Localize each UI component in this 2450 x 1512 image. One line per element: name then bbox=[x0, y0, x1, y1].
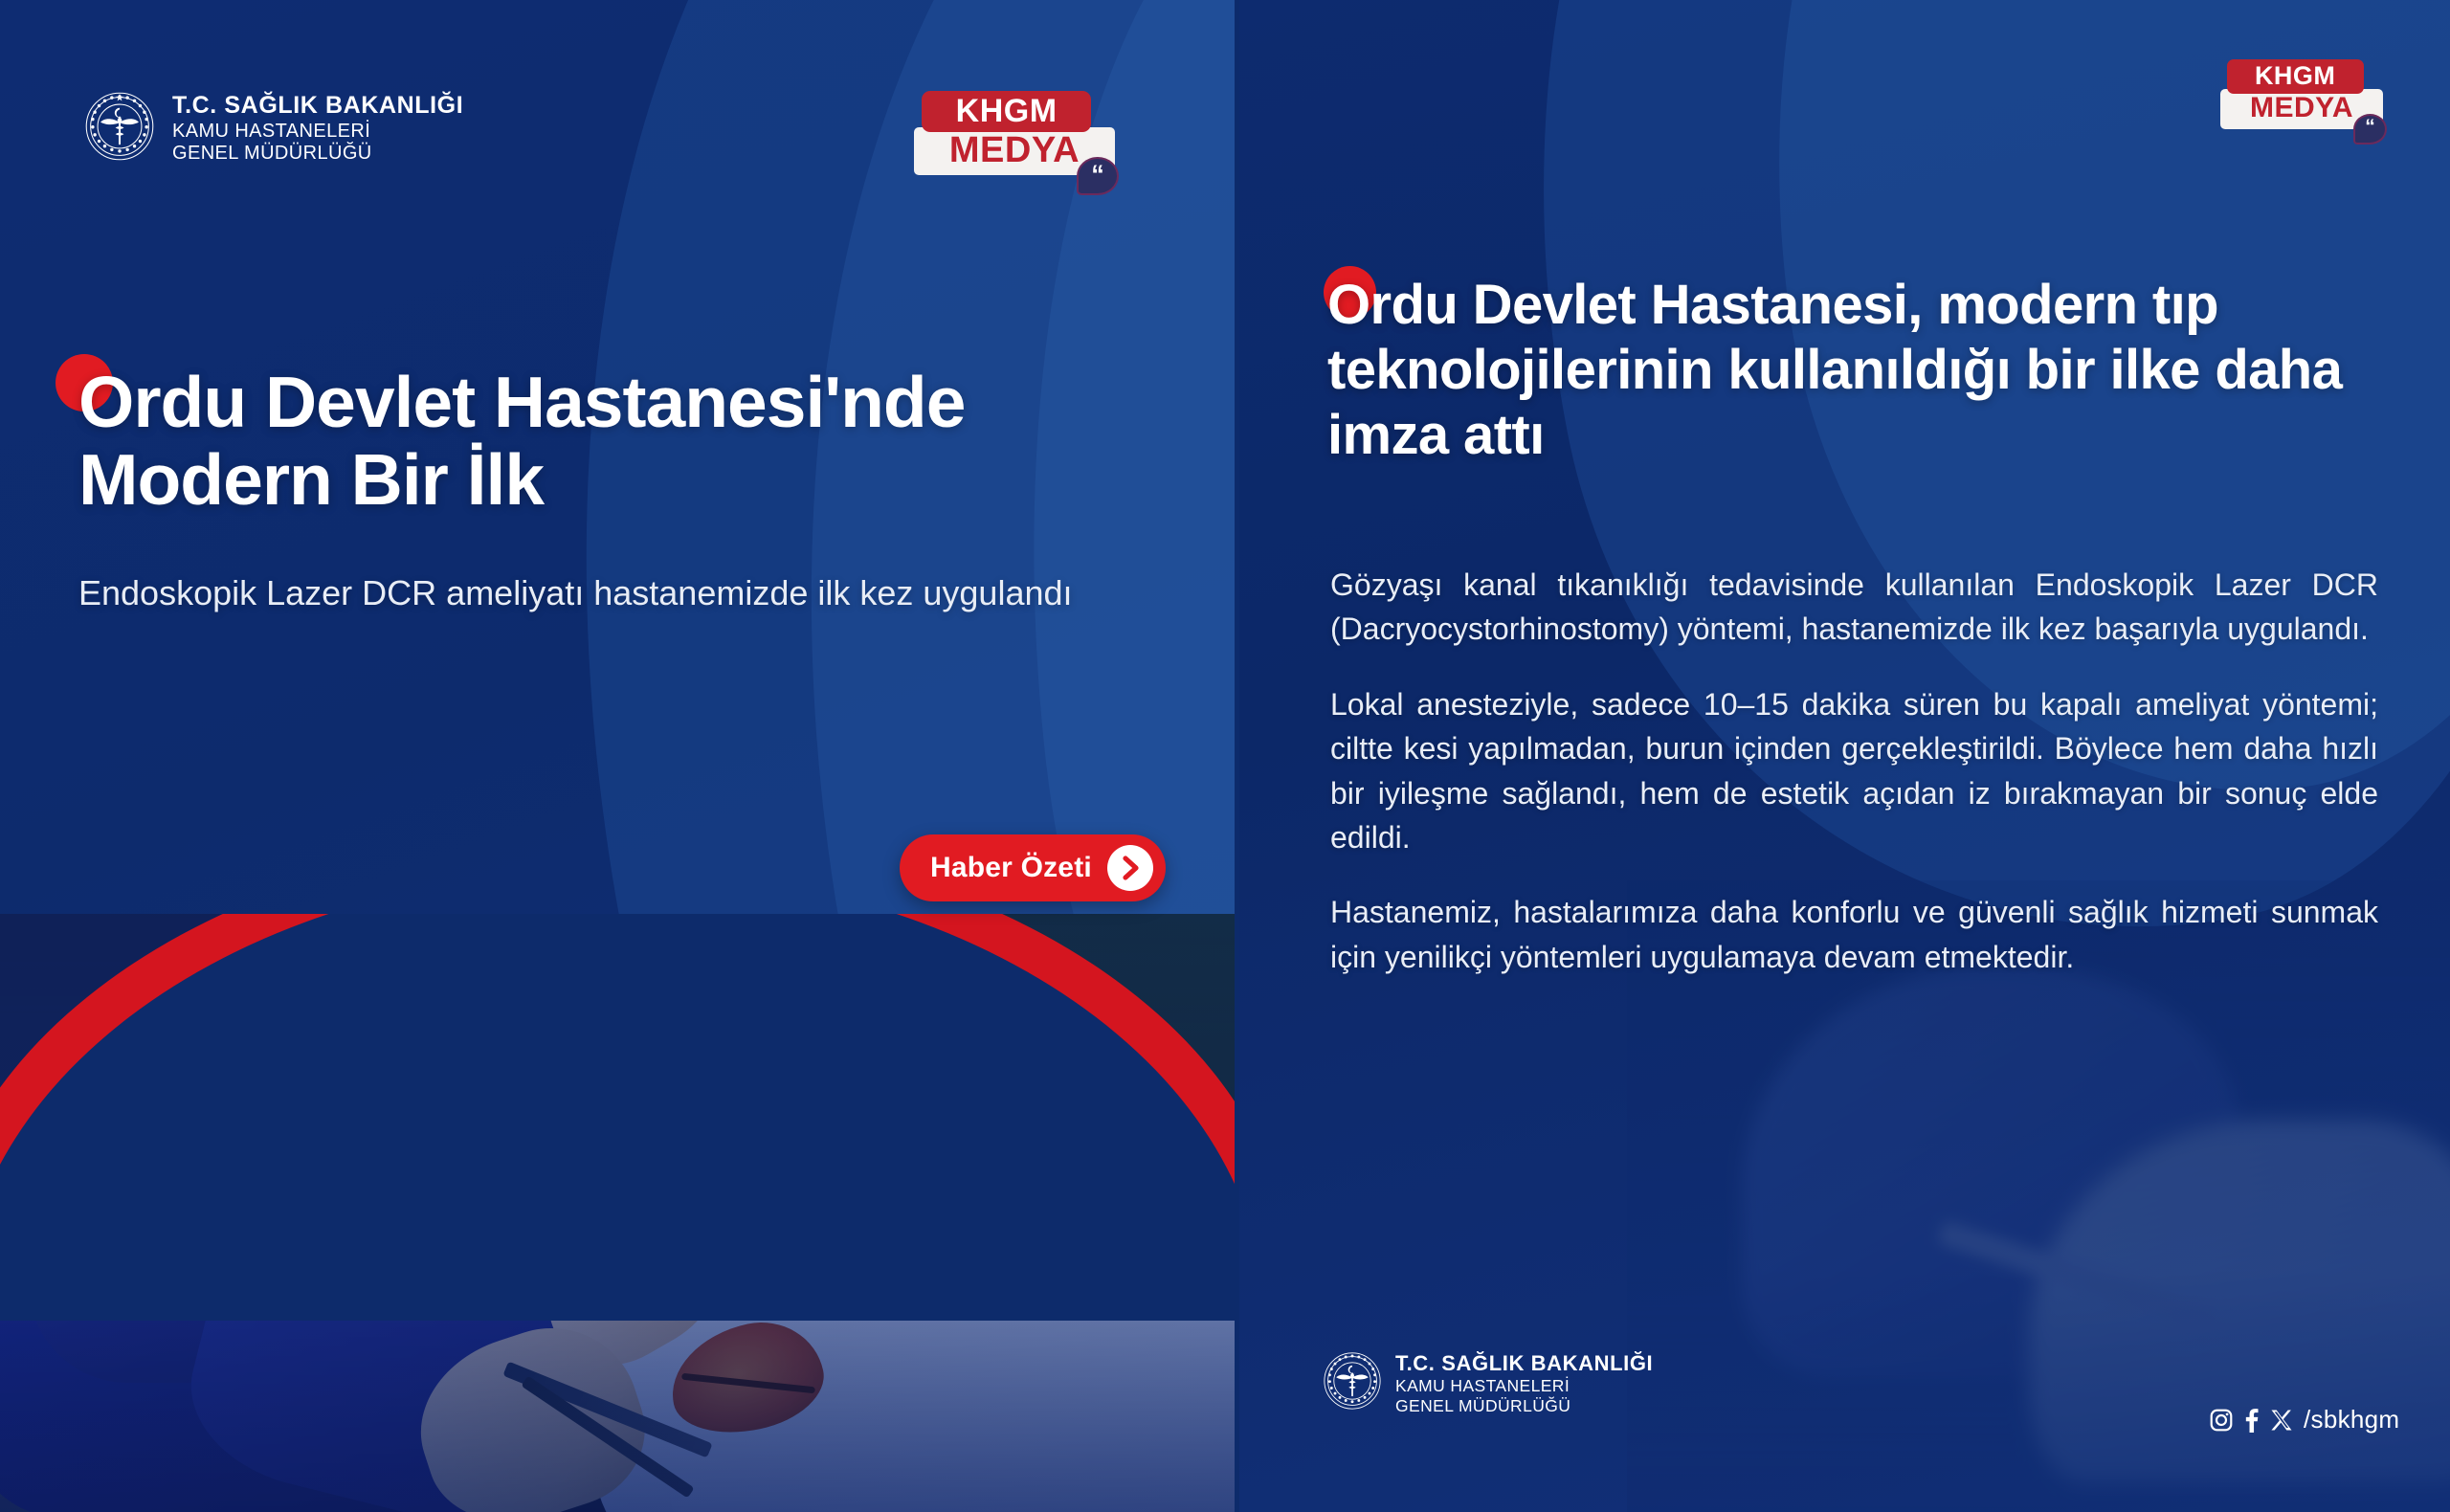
right-headline: Ordu Devlet Hastanesi, modern tıp teknol… bbox=[1327, 273, 2375, 468]
ministry-line-1: T.C. SAĞLIK BAKANLIĞI bbox=[1395, 1351, 1653, 1376]
article-paragraph: Hastanemiz, hastalarımıza daha konforlu … bbox=[1330, 890, 2378, 979]
ministry-logo-text: T.C. SAĞLIK BAKANLIĞI KAMU HASTANELERİ G… bbox=[172, 92, 463, 166]
social-handle[interactable]: /sbkhgm bbox=[2304, 1405, 2399, 1434]
chevron-right-icon bbox=[1107, 845, 1153, 891]
left-subtitle: Endoskopik Lazer DCR ameliyatı hastanemi… bbox=[78, 568, 1160, 617]
article-paragraph: Lokal anesteziyle, sadece 10–15 dakika s… bbox=[1330, 682, 2378, 860]
khgm-logo-line-1: KHGM bbox=[922, 91, 1090, 132]
haber-ozeti-label: Haber Özeti bbox=[930, 852, 1092, 884]
facebook-icon[interactable] bbox=[2244, 1408, 2260, 1433]
instagram-icon[interactable] bbox=[2209, 1408, 2234, 1433]
ministry-line-2: KAMU HASTANELERİ bbox=[172, 121, 463, 144]
ministry-of-health-seal-icon bbox=[1323, 1351, 1382, 1415]
quote-bubble-icon: “ bbox=[1077, 157, 1119, 195]
article-body: Gözyaşı kanal tıkanıklığı tedavisinde ku… bbox=[1330, 563, 2378, 979]
surgery-photo bbox=[0, 914, 1235, 1512]
left-headline-line-1: Ordu Devlet Hastanesi'nde bbox=[78, 364, 1198, 441]
red-arc-decoration bbox=[0, 914, 1235, 1282]
ministry-line-1: T.C. SAĞLIK BAKANLIĞI bbox=[172, 92, 463, 121]
khgm-medya-logo-center: KHGM MEDYA “ bbox=[914, 91, 1115, 175]
ministry-logo-header: T.C. SAĞLIK BAKANLIĞI KAMU HASTANELERİ G… bbox=[84, 91, 463, 167]
ministry-line-3: GENEL MÜDÜRLÜĞÜ bbox=[172, 143, 463, 166]
ministry-logo-text: T.C. SAĞLIK BAKANLIĞI KAMU HASTANELERİ G… bbox=[1395, 1351, 1653, 1415]
left-headline-line-2: Modern Bir İlk bbox=[78, 441, 1198, 519]
ministry-logo-footer: T.C. SAĞLIK BAKANLIĞI KAMU HASTANELERİ G… bbox=[1323, 1351, 1653, 1415]
news-card-stage: T.C. SAĞLIK BAKANLIĞI KAMU HASTANELERİ G… bbox=[0, 0, 2450, 1512]
haber-ozeti-button[interactable]: Haber Özeti bbox=[900, 834, 1166, 901]
ministry-of-health-seal-icon bbox=[84, 91, 155, 167]
khgm-logo-line-1: KHGM bbox=[2227, 59, 2364, 94]
social-links: /sbkhgm bbox=[2209, 1405, 2399, 1434]
ministry-line-2: KAMU HASTANELERİ bbox=[1395, 1376, 1653, 1396]
ministry-line-3: GENEL MÜDÜRLÜĞÜ bbox=[1395, 1396, 1653, 1416]
quote-bubble-icon: “ bbox=[2353, 114, 2387, 145]
khgm-medya-logo-topright: KHGM MEDYA “ bbox=[2220, 59, 2383, 129]
article-paragraph: Gözyaşı kanal tıkanıklığı tedavisinde ku… bbox=[1330, 563, 2378, 652]
left-headline: Ordu Devlet Hastanesi'nde Modern Bir İlk bbox=[78, 364, 1198, 519]
x-twitter-icon[interactable] bbox=[2270, 1409, 2293, 1432]
